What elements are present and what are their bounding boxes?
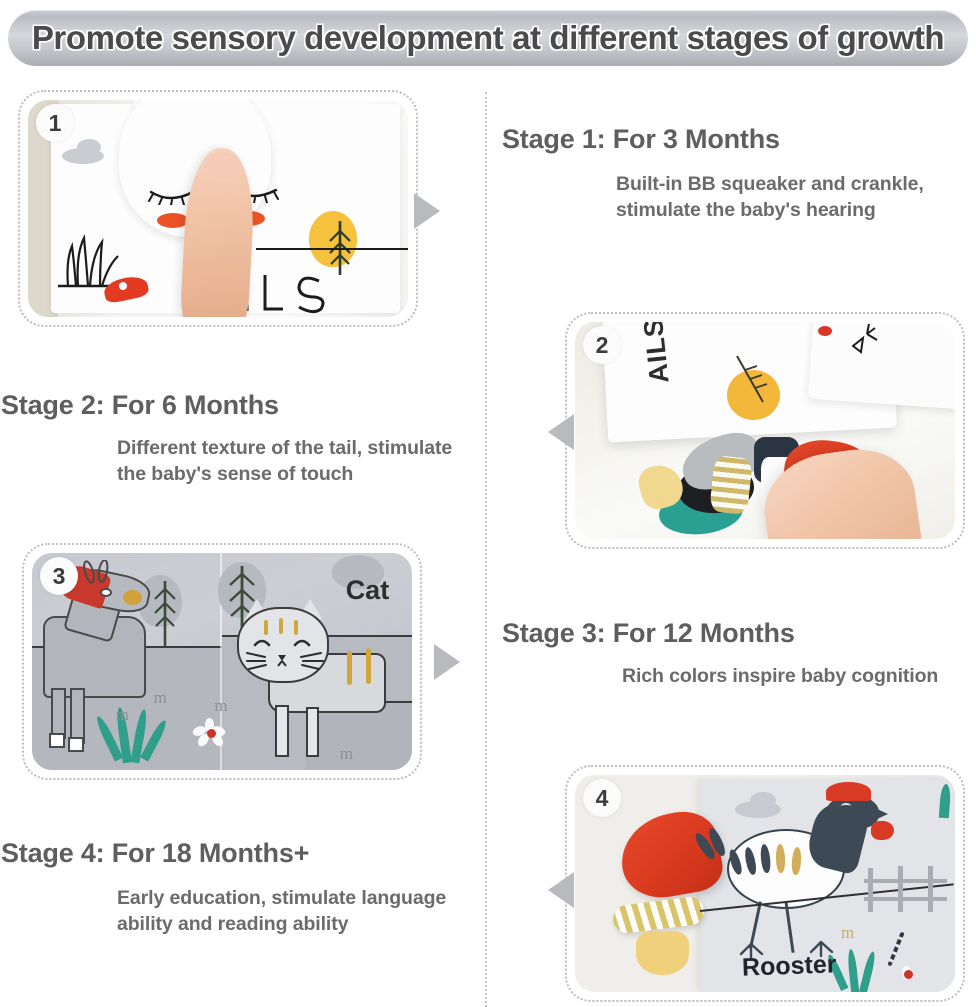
- fingernail: [203, 151, 242, 183]
- cat-forehead-stripe: [279, 618, 283, 634]
- cat-face-icon: [245, 633, 325, 679]
- fence-post: [898, 866, 903, 912]
- stage-1-body-line-1: Built-in BB squeaker and crankle,: [616, 172, 966, 198]
- panel-number-badge: 3: [40, 557, 78, 595]
- stage-2-body-line-2: the baby's sense of touch: [117, 462, 487, 488]
- photo-panel-2: AILS 2: [565, 312, 965, 549]
- cat-leg: [275, 705, 289, 757]
- cat-label-text: Cat: [346, 575, 390, 606]
- page-title: Promote sensory development at different…: [8, 19, 968, 57]
- stage-1-body: Built-in BB squeaker and crankle, stimul…: [616, 172, 966, 223]
- bunny-face-outline: [833, 322, 889, 366]
- column-divider: [485, 92, 487, 1007]
- rooster-wattle: [871, 821, 894, 841]
- donkey-leg: [51, 688, 66, 740]
- donkey-hoof: [68, 737, 83, 752]
- fence-rail: [864, 897, 948, 901]
- photo-panel-1: 1: [18, 90, 418, 327]
- panel-number-badge: 1: [36, 104, 74, 142]
- stage-2-body-line-1: Different texture of the tail, stimulate: [117, 436, 487, 462]
- fence-post: [928, 866, 933, 912]
- yellow-fabric-piece: [636, 931, 689, 974]
- photo-4-image: m Rooster: [575, 775, 955, 992]
- donkey-hoof: [49, 733, 64, 748]
- panel-number-badge: 4: [583, 779, 621, 817]
- stage-4-body: Early education, stimulate language abil…: [117, 886, 497, 937]
- flow-arrow-4: [548, 872, 574, 908]
- photo-panel-4: m Rooster 4: [565, 765, 965, 1002]
- stage-1-heading: Stage 1: For 3 Months: [502, 124, 780, 155]
- fence-rail: [864, 879, 948, 883]
- leaf-vein-icon: [727, 352, 777, 410]
- stage-4-body-line-2: ability and reading ability: [117, 912, 497, 938]
- stage-1-body-line-2: stimulate the baby's hearing: [616, 198, 966, 224]
- flow-arrow-3: [434, 644, 460, 680]
- photo-3-image: Cat m m m m: [32, 553, 412, 770]
- cat-body-stripe: [366, 648, 371, 684]
- flow-arrow-1: [414, 193, 440, 229]
- stage-2-body: Different texture of the tail, stimulate…: [117, 436, 487, 487]
- grass-mark: m: [116, 705, 129, 725]
- cat-leg: [306, 707, 320, 757]
- fence-post: [868, 868, 873, 911]
- grass-mark: m: [340, 744, 353, 764]
- rooster-comb: [826, 782, 872, 802]
- donkey-ears-icon: [78, 560, 118, 586]
- grass-mark: m: [154, 688, 167, 708]
- grass-mark: m: [214, 696, 227, 716]
- rooster-label-text: Rooster: [742, 951, 837, 983]
- pine-tree-icon: [148, 579, 182, 649]
- flower-center: [904, 970, 913, 979]
- hill-line: [256, 248, 408, 250]
- stage-3-body: Rich colors inspire baby cognition: [622, 664, 972, 690]
- donkey-leg: [70, 688, 85, 744]
- flower-center: [207, 729, 216, 738]
- header-banner: Promote sensory development at different…: [8, 10, 968, 66]
- rooster-beak: [875, 808, 888, 820]
- stage-4-body-line-1: Early education, stimulate language: [117, 886, 497, 912]
- stage-3-body-line-1: Rich colors inspire baby cognition: [622, 664, 972, 690]
- grass-mark: m: [841, 923, 854, 943]
- cat-body-stripe: [347, 651, 352, 685]
- tail-striped: [709, 455, 753, 515]
- photo-2-image: AILS: [575, 322, 955, 539]
- photo-panel-3: Cat m m m m 3: [22, 543, 422, 780]
- photo-1-image: [28, 100, 408, 317]
- flow-arrow-2: [548, 414, 574, 450]
- stage-2-heading: Stage 2: For 6 Months: [1, 390, 279, 421]
- stage-3-heading: Stage 3: For 12 Months: [502, 618, 795, 649]
- stage-4-heading: Stage 4: For 18 Months+: [1, 838, 309, 869]
- panel-number-badge: 2: [583, 326, 621, 364]
- book-text-ails: AILS: [638, 322, 676, 385]
- donkey-eye: [100, 588, 112, 597]
